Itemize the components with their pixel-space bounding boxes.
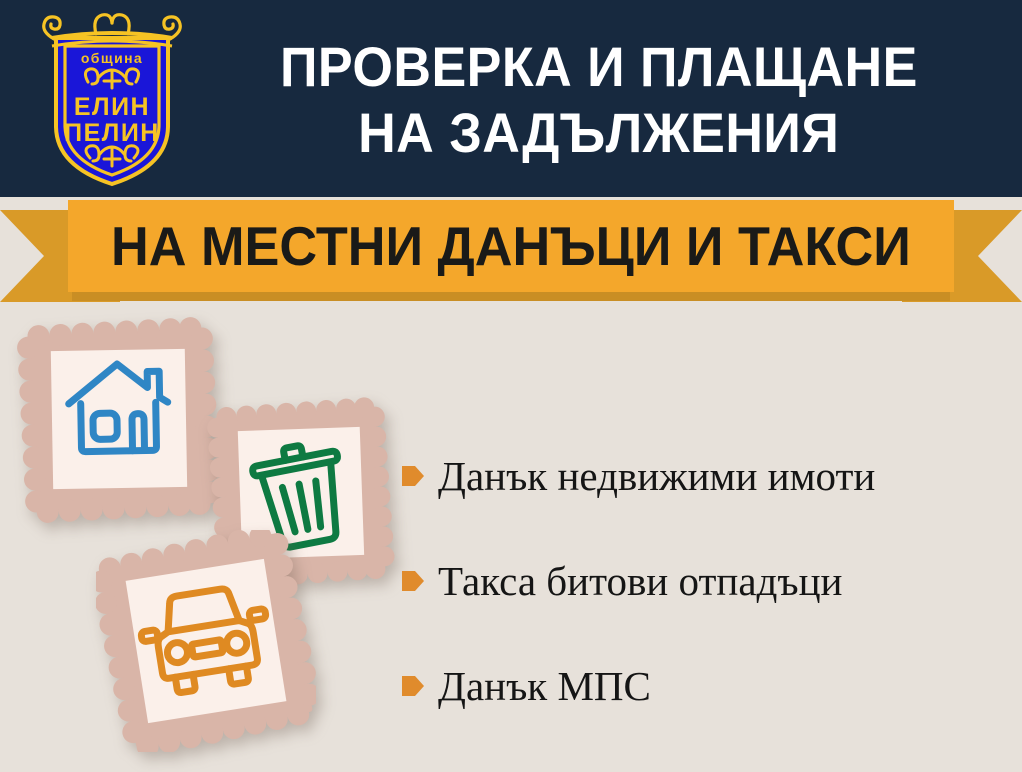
crest-municipality-label: община xyxy=(81,50,143,66)
list-item[interactable]: Данък МПС xyxy=(402,634,1012,739)
arrow-bullet-icon xyxy=(402,464,424,488)
municipality-crest-logo: община ЕЛИН ПЕЛИН xyxy=(38,8,186,190)
subtitle-ribbon: НА МЕСТНИ ДАНЪЦИ И ТАКСИ xyxy=(0,196,1022,306)
list-item[interactable]: Данък недвижими имоти xyxy=(402,424,1012,529)
list-item-label: Данък МПС xyxy=(438,665,651,708)
ribbon-fold-shadow xyxy=(72,291,950,301)
list-item[interactable]: Такса битови отпадъци xyxy=(402,529,1012,634)
crest-name-line2: ПЕЛИН xyxy=(64,119,160,147)
ribbon-text: НА МЕСТНИ ДАНЪЦИ И ТАКСИ xyxy=(111,219,911,274)
stamp-card-property xyxy=(14,314,224,526)
crest-name-line1: ЕЛИН xyxy=(74,93,150,121)
page-title-line-1: ПРОВЕРКА И ПЛАЩАНЕ xyxy=(280,34,918,100)
poster-canvas: община ЕЛИН ПЕЛИН ПРОВЕ xyxy=(0,0,1022,772)
tax-type-list: Данък недвижими имоти Такса битови отпад… xyxy=(402,424,1012,739)
header-title-block: ПРОВЕРКА И ПЛАЩАНЕ НА ЗАДЪЛЖЕНИЯ xyxy=(186,16,1012,184)
arrow-bullet-icon xyxy=(402,569,424,593)
stamp-card-vehicle xyxy=(96,530,316,752)
list-item-label: Такса битови отпадъци xyxy=(438,560,842,603)
list-item-label: Данък недвижими имоти xyxy=(438,455,875,498)
arrow-bullet-icon xyxy=(402,674,424,698)
page-title-line-2: НА ЗАДЪЛЖЕНИЯ xyxy=(358,100,839,166)
ribbon-banner: НА МЕСТНИ ДАНЪЦИ И ТАКСИ xyxy=(68,200,954,292)
